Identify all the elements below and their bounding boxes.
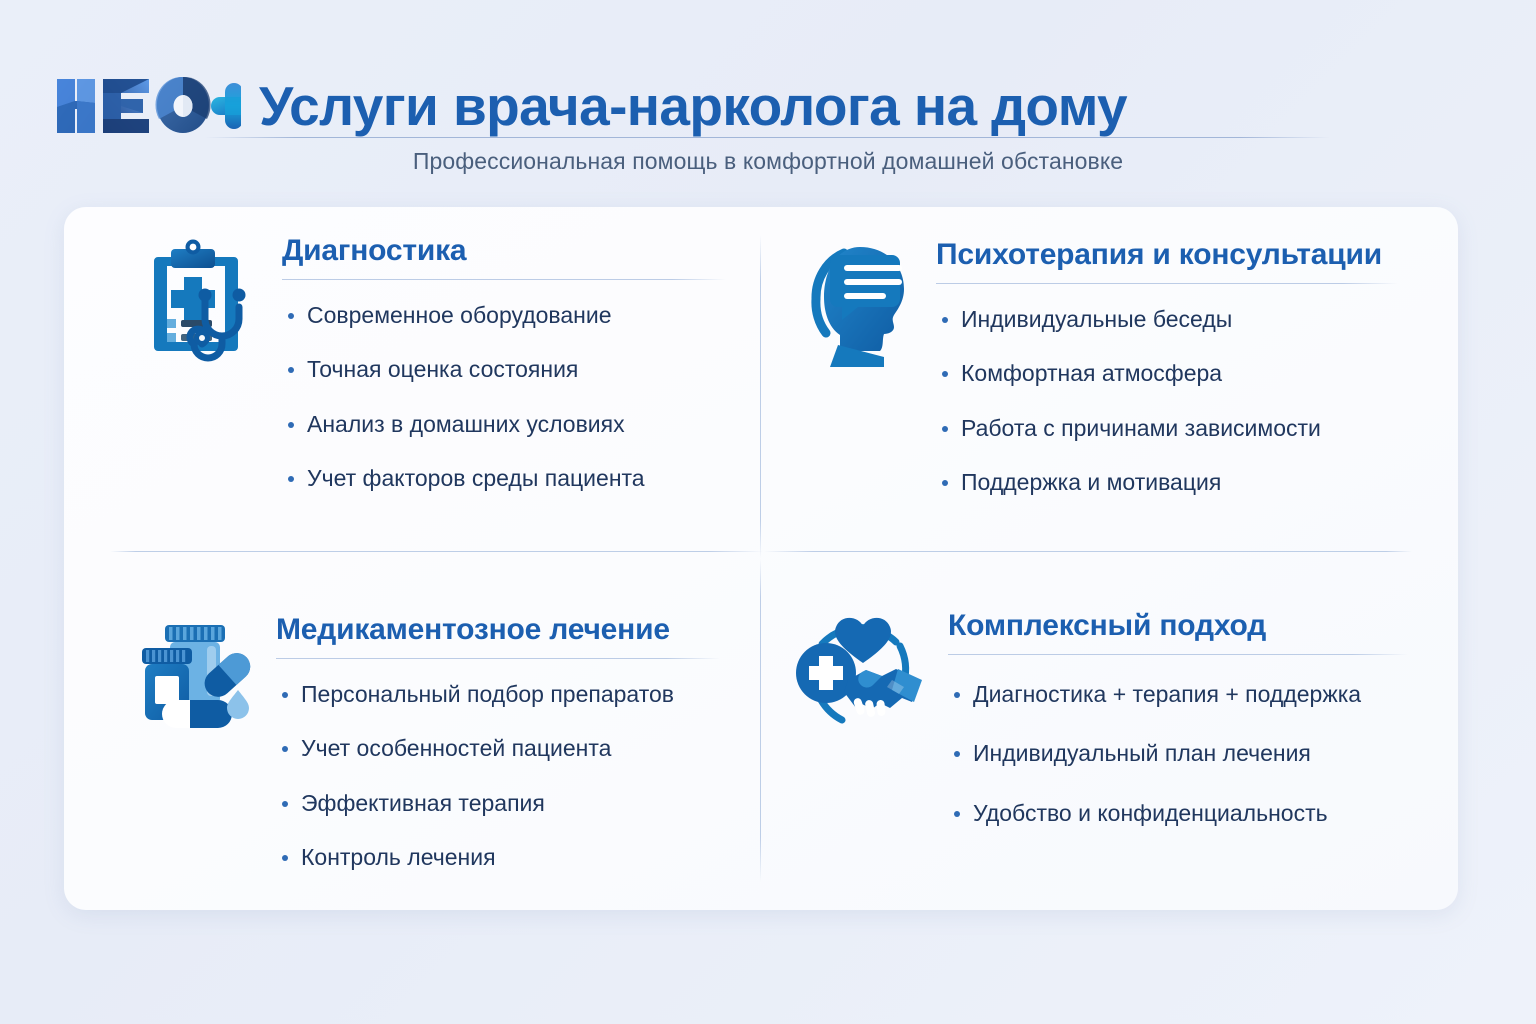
service-card-diagnostics[interactable]: Диагностика Современное оборудование Точ… bbox=[64, 207, 760, 552]
list-item: Учет факторов среды пациента bbox=[282, 465, 760, 493]
page-subtitle: Профессиональная помощь в комфортной дом… bbox=[0, 148, 1536, 175]
card-bullet-list: Индивидуальные беседы Комфортная атмосфе… bbox=[936, 306, 1458, 497]
list-item: Поддержка и мотивация bbox=[936, 469, 1458, 497]
card-body: Диагностика Современное оборудование Точ… bbox=[282, 235, 760, 520]
service-card-comprehensive[interactable]: Комплексный подход Диагностика + терапия… bbox=[760, 552, 1458, 910]
list-item: Комфортная атмосфера bbox=[936, 360, 1458, 388]
list-item: Персональный подбор препаратов bbox=[276, 681, 760, 709]
service-card-medication[interactable]: Медикаментозное лечение Персональный под… bbox=[64, 552, 760, 910]
page-title: Услуги врача-нарколога на дому bbox=[259, 79, 1127, 134]
list-item: Индивидуальный план лечения bbox=[948, 740, 1458, 768]
service-card-psychotherapy[interactable]: Психотерапия и консультации Индивидуальн… bbox=[760, 207, 1458, 552]
services-grid: Диагностика Современное оборудование Точ… bbox=[64, 207, 1458, 910]
card-title: Диагностика bbox=[282, 235, 760, 267]
card-title-underline bbox=[282, 279, 726, 280]
neo-plus-logo bbox=[55, 73, 241, 139]
list-item: Индивидуальные беседы bbox=[936, 306, 1458, 334]
card-bullet-list: Персональный подбор препаратов Учет особ… bbox=[276, 681, 760, 872]
card-title-underline bbox=[276, 658, 720, 659]
list-item: Эффективная терапия bbox=[276, 790, 760, 818]
card-title-underline bbox=[948, 654, 1408, 655]
card-title: Медикаментозное лечение bbox=[276, 614, 760, 646]
clipboard-stethoscope-icon bbox=[142, 235, 260, 367]
card-body: Психотерапия и консультации Индивидуальн… bbox=[936, 239, 1458, 524]
list-item: Точная оценка состояния bbox=[282, 356, 760, 384]
logo-mark-icon bbox=[55, 73, 241, 139]
card-body: Комплексный подход Диагностика + терапия… bbox=[948, 610, 1458, 859]
services-panel: Диагностика Современное оборудование Точ… bbox=[64, 207, 1458, 910]
card-bullet-list: Современное оборудование Точная оценка с… bbox=[282, 302, 760, 493]
head-speech-bubble-icon bbox=[800, 239, 912, 367]
card-bullet-list: Диагностика + терапия + поддержка Индиви… bbox=[948, 681, 1458, 828]
list-item: Анализ в домашних условиях bbox=[282, 411, 760, 439]
card-title: Психотерапия и консультации bbox=[936, 239, 1458, 271]
list-item: Учет особенностей пациента bbox=[276, 735, 760, 763]
page-header: Услуги врача-нарколога на дому Профессио… bbox=[0, 0, 1536, 196]
list-item: Контроль лечения bbox=[276, 844, 760, 872]
list-item: Работа с причинами зависимости bbox=[936, 415, 1458, 443]
list-item: Современное оборудование bbox=[282, 302, 760, 330]
card-title: Комплексный подход bbox=[948, 610, 1458, 642]
pill-bottles-capsules-icon bbox=[132, 614, 256, 736]
header-divider bbox=[205, 137, 1330, 138]
card-body: Медикаментозное лечение Персональный под… bbox=[276, 614, 760, 899]
card-title-underline bbox=[936, 283, 1398, 284]
list-item: Диагностика + терапия + поддержка bbox=[948, 681, 1458, 709]
list-item: Удобство и конфиденциальность bbox=[948, 800, 1458, 828]
heart-handshake-cross-icon bbox=[792, 610, 926, 730]
